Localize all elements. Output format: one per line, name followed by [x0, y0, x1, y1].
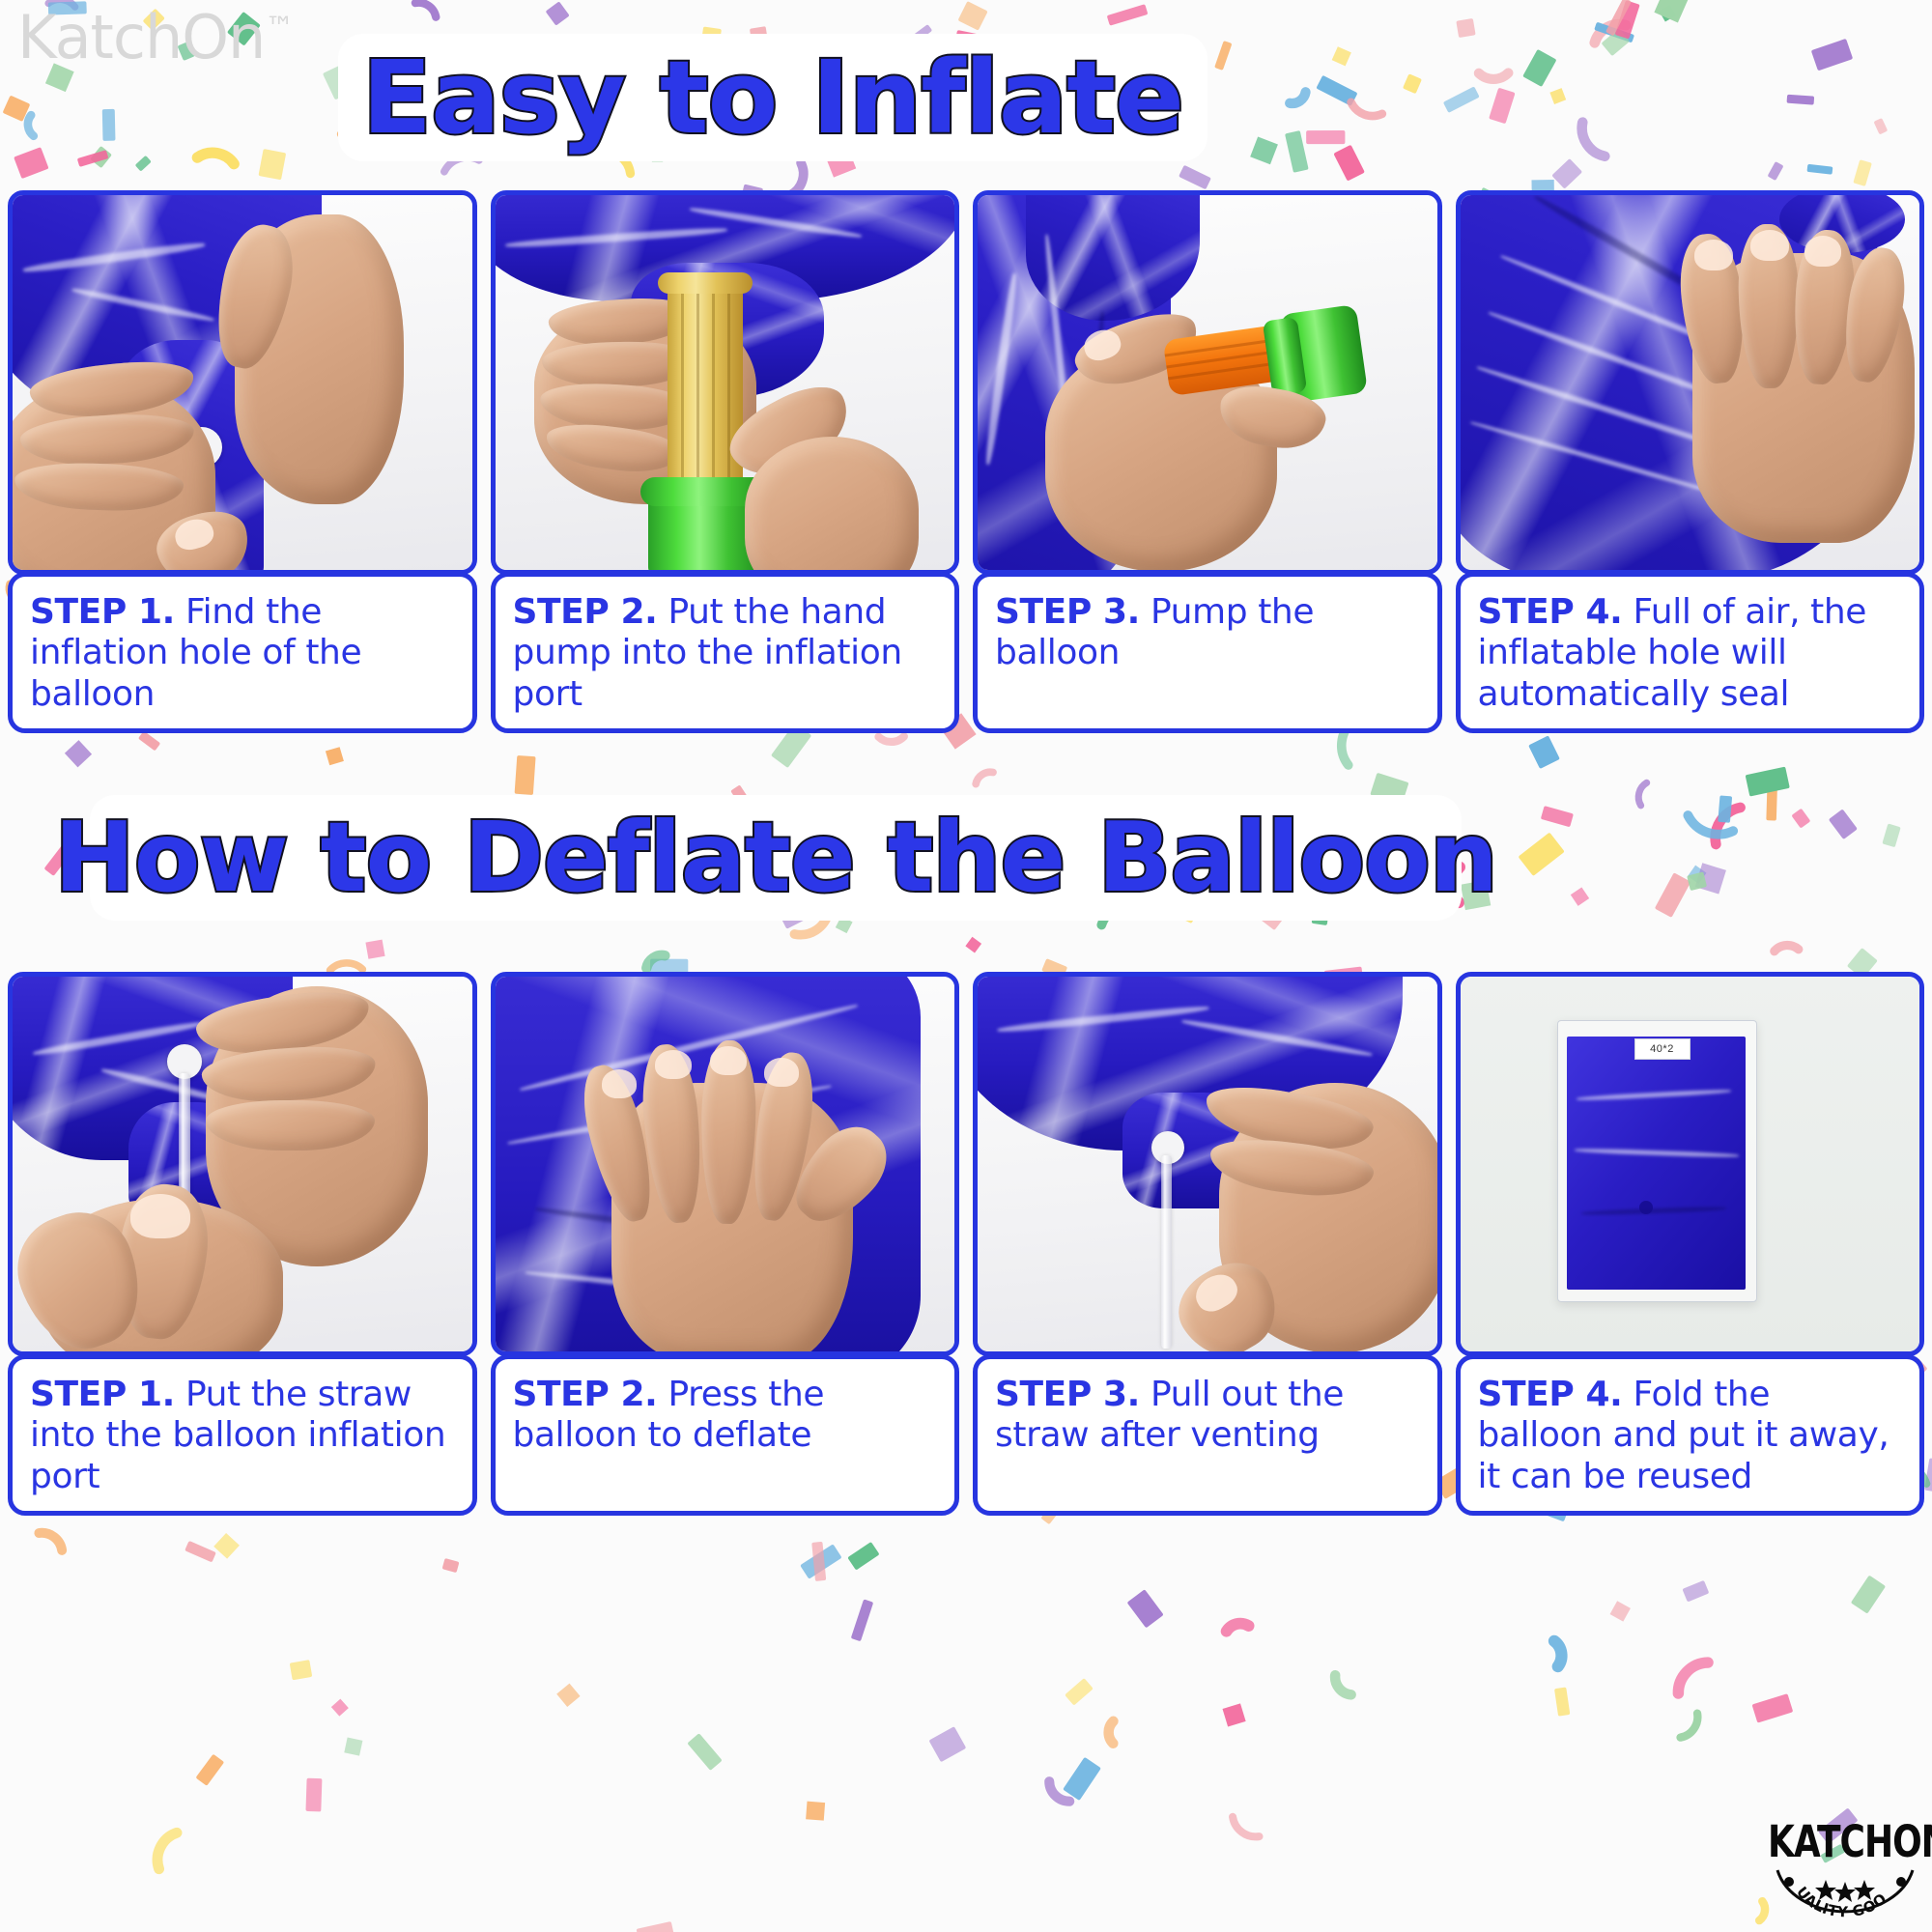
step-lead: STEP 4. [1478, 1375, 1623, 1414]
photo-hand-pulling-out-straw [978, 977, 1437, 1351]
photo-panel-inflate-3 [973, 190, 1442, 575]
caption-card-inflate-2: STEP 2. Put the hand pump into the infla… [491, 572, 960, 733]
step-lead: STEP 3. [995, 592, 1140, 632]
photo-straw-inserted-into-port [13, 977, 472, 1351]
deflate-straw [1161, 1155, 1172, 1349]
inflate-title: Easy to Inflate [362, 47, 1183, 148]
photo-panel-deflate-2 [491, 972, 960, 1356]
badge-arc-icon: QUALITY GOODS [1768, 1810, 1922, 1926]
photo-panel-inflate-2 [491, 190, 960, 575]
photo-hand-pumping-balloon [978, 195, 1437, 570]
photo-hand-pressing-balloon-flat [496, 977, 955, 1351]
caption-card-inflate-3: STEP 3. Pump the balloon [973, 572, 1442, 733]
katchon-watermark: KatchOn™ [17, 2, 293, 72]
step-lead: STEP 3. [995, 1375, 1140, 1414]
step-lead: STEP 2. [513, 1375, 658, 1414]
photo-hand-pump-inserted-into-port [496, 195, 955, 570]
photo-hand-pressing-inflated-balloon [1461, 195, 1920, 570]
photo-panel-deflate-4: 40*2 [1456, 972, 1925, 1356]
package-size-text: 40*2 [1650, 1043, 1674, 1055]
photo-panel-inflate-4 [1456, 190, 1925, 575]
caption-card-deflate-1: STEP 1. Put the straw into the balloon i… [8, 1354, 477, 1516]
deflate-title-banner: How to Deflate the Balloon [90, 795, 1462, 921]
photo-hand-holding-balloon-valve [13, 195, 472, 570]
svg-text:QUALITY GOODS: QUALITY GOODS [1768, 1810, 1890, 1920]
katchon-quality-badge: KATCHON™ QUALITY GOODS [1768, 1810, 1922, 1926]
photo-panel-deflate-1 [8, 972, 477, 1356]
caption-card-deflate-4: STEP 4. Fold the balloon and put it away… [1456, 1354, 1925, 1516]
package-size-label: 40*2 [1634, 1038, 1690, 1060]
step-lead: STEP 1. [30, 1375, 175, 1414]
photo-folded-balloon-in-bag: 40*2 [1461, 977, 1920, 1351]
photo-panel-inflate-1 [8, 190, 477, 575]
deflate-title: How to Deflate the Balloon [54, 810, 1497, 906]
caption-card-inflate-4: STEP 4. Full of air, the inflatable hole… [1456, 572, 1925, 733]
deflate-caption-row: STEP 1. Put the straw into the balloon i… [8, 1354, 1924, 1516]
hand-pump-barrel [668, 280, 743, 502]
inflate-caption-row: STEP 1. Find the inflation hole of the b… [8, 572, 1924, 733]
step-lead: STEP 4. [1478, 592, 1623, 632]
watermark-tm: ™ [265, 11, 293, 44]
inflate-photo-grid [8, 190, 1924, 575]
folded-balloon [1567, 1037, 1746, 1290]
caption-card-inflate-1: STEP 1. Find the inflation hole of the b… [8, 572, 477, 733]
caption-card-deflate-3: STEP 3. Pull out the straw after venting [973, 1354, 1442, 1516]
deflate-photo-grid: 40*2 [8, 972, 1924, 1356]
step-lead: STEP 2. [513, 592, 658, 632]
step-lead: STEP 1. [30, 592, 175, 632]
photo-panel-deflate-3 [973, 972, 1442, 1356]
infographic-stage: KatchOn™ Easy to Inflate [0, 0, 1932, 1932]
watermark-text: KatchOn [17, 2, 265, 72]
caption-card-deflate-2: STEP 2. Press the balloon to deflate [491, 1354, 960, 1516]
inflate-title-banner: Easy to Inflate [338, 34, 1207, 161]
